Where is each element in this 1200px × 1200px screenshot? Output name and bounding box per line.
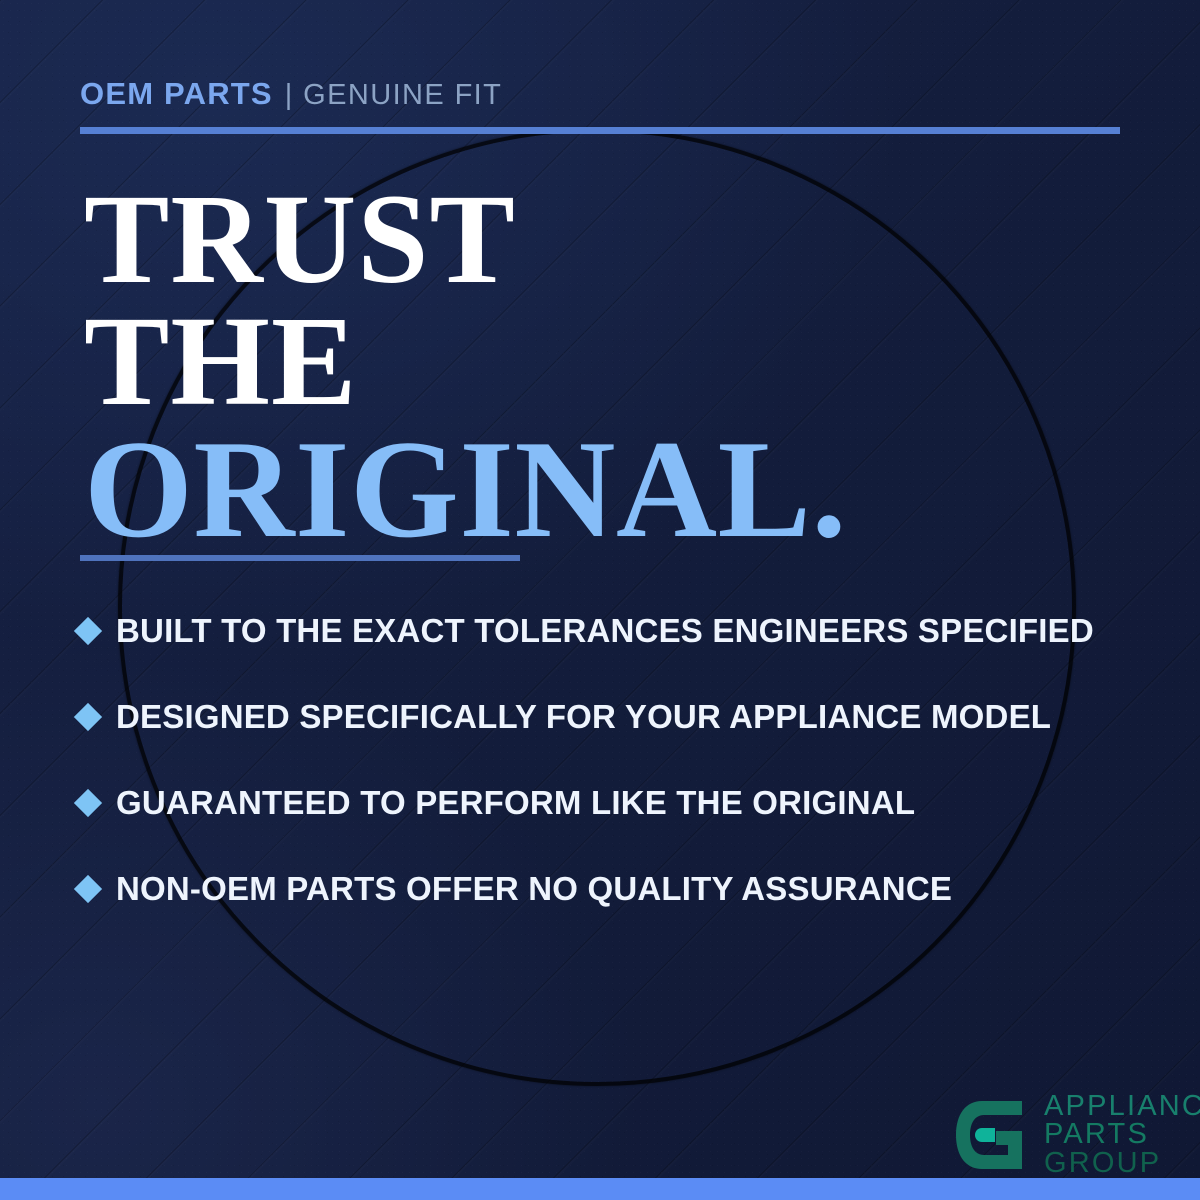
- list-item: BUILT TO THE EXACT TOLERANCES ENGINEERS …: [78, 588, 1138, 674]
- bullet-label: BUILT TO THE EXACT TOLERANCES ENGINEERS …: [116, 612, 1094, 650]
- brand-wordmark: APPLIANCE PARTS GROUP: [1044, 1092, 1200, 1177]
- diamond-icon: [74, 617, 102, 645]
- bullet-list: BUILT TO THE EXACT TOLERANCES ENGINEERS …: [78, 588, 1138, 932]
- bullets-divider: [80, 555, 520, 561]
- bottom-accent-bar: [0, 1178, 1200, 1200]
- headline-line-2: THE: [84, 301, 847, 423]
- eyebrow-strong-label: OEM PARTS: [80, 76, 273, 112]
- bullet-label: GUARANTEED TO PERFORM LIKE THE ORIGINAL: [116, 784, 915, 822]
- brand-word-group: GROUP: [1044, 1149, 1200, 1177]
- g-monogram-icon: [952, 1095, 1030, 1175]
- list-item: NON-OEM PARTS OFFER NO QUALITY ASSURANCE: [78, 846, 1138, 932]
- brand-word-parts: PARTS: [1044, 1120, 1200, 1148]
- brand-word-appliance: APPLIANCE: [1044, 1092, 1200, 1120]
- diamond-icon: [74, 703, 102, 731]
- list-item: DESIGNED SPECIFICALLY FOR YOUR APPLIANCE…: [78, 674, 1138, 760]
- headline-line-1: TRUST: [84, 179, 847, 301]
- page-title: TRUST THE ORIGINAL.: [84, 179, 847, 555]
- header-divider: [80, 127, 1120, 134]
- eyebrow-light-label: | GENUINE FIT: [285, 79, 502, 112]
- bullet-label: NON-OEM PARTS OFFER NO QUALITY ASSURANCE: [116, 870, 952, 908]
- brand-logo: APPLIANCE PARTS GROUP: [952, 1092, 1200, 1177]
- poster-content: OEM PARTS | GENUINE FIT TRUST THE ORIGIN…: [0, 0, 1200, 1200]
- list-item: GUARANTEED TO PERFORM LIKE THE ORIGINAL: [78, 760, 1138, 846]
- poster-canvas: OEM PARTS | GENUINE FIT TRUST THE ORIGIN…: [0, 0, 1200, 1200]
- bullet-label: DESIGNED SPECIFICALLY FOR YOUR APPLIANCE…: [116, 698, 1051, 736]
- diamond-icon: [74, 789, 102, 817]
- diamond-icon: [74, 875, 102, 903]
- eyebrow: OEM PARTS | GENUINE FIT: [80, 76, 502, 112]
- headline-line-3: ORIGINAL.: [84, 423, 847, 556]
